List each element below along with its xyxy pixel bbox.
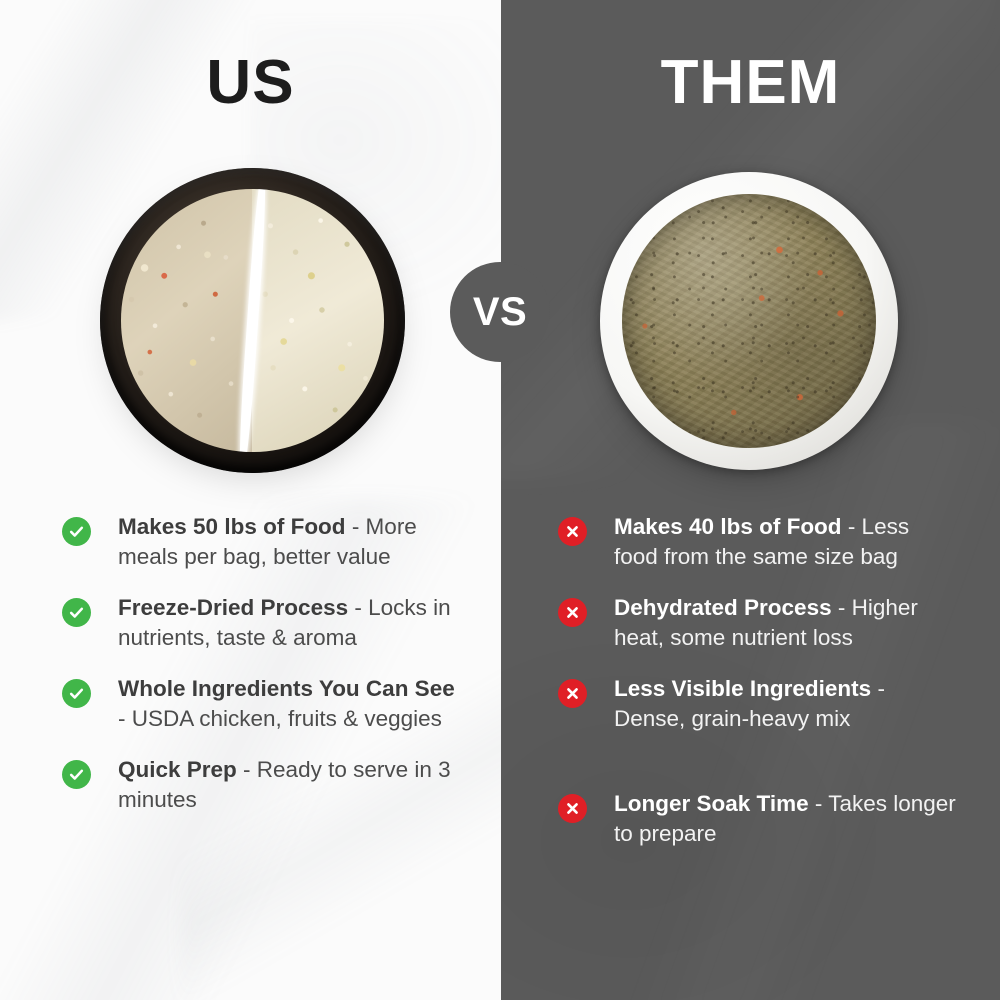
list-item-heading: Quick Prep [118, 757, 237, 782]
list-item-heading: Makes 50 lbs of Food [118, 514, 346, 539]
list-item: Quick Prep - Ready to serve in 3 minutes [62, 755, 462, 814]
us-benefit-list: Makes 50 lbs of Food - More meals per ba… [62, 512, 462, 836]
us-title: US [0, 52, 501, 114]
list-item: Makes 40 lbs of Food - Less food from th… [558, 512, 958, 571]
us-panel [0, 0, 501, 1000]
list-item-heading: Less Visible Ingredients [614, 676, 871, 701]
check-circle-icon [62, 517, 91, 546]
vs-badge-label: VS [473, 290, 527, 335]
white-bowl-body [600, 172, 898, 470]
list-item-heading: Dehydrated Process [614, 595, 832, 620]
list-item-text: Less Visible Ingredients - Dense, grain-… [614, 674, 958, 733]
list-item-text: Dehydrated Process - Higher heat, some n… [614, 593, 958, 652]
list-item-detail: - USDA chicken, fruits & veggies [118, 706, 442, 731]
check-circle-icon [62, 760, 91, 789]
them-title: THEM [501, 52, 1000, 114]
list-item-heading: Makes 40 lbs of Food [614, 514, 842, 539]
list-item-text: Whole Ingredients You Can See - USDA chi… [118, 674, 462, 733]
cross-circle-icon [558, 794, 587, 823]
list-item-text: Quick Prep - Ready to serve in 3 minutes [118, 755, 462, 814]
dehydrated-food-surface [622, 194, 875, 447]
cross-circle-icon [558, 517, 587, 546]
list-item-heading: Freeze-Dried Process [118, 595, 348, 620]
dehydrated-food-bowl [600, 172, 898, 470]
dark-bowl-body [100, 168, 405, 473]
list-item-heading: Longer Soak Time [614, 791, 809, 816]
food-speckles [622, 194, 875, 447]
list-item: Freeze-Dried Process - Locks in nutrient… [62, 593, 462, 652]
list-item-heading: Whole Ingredients You Can See [118, 676, 455, 701]
freeze-dried-food-bowl [100, 168, 405, 473]
list-item: Longer Soak Time - Takes longer to prepa… [558, 789, 958, 848]
list-item-text: Makes 50 lbs of Food - More meals per ba… [118, 512, 462, 571]
list-item: Less Visible Ingredients - Dense, grain-… [558, 674, 958, 733]
list-item: Whole Ingredients You Can See - USDA chi… [62, 674, 462, 733]
check-circle-icon [62, 598, 91, 627]
list-item: Dehydrated Process - Higher heat, some n… [558, 593, 958, 652]
list-item-text: Makes 40 lbs of Food - Less food from th… [614, 512, 958, 571]
list-item-text: Freeze-Dried Process - Locks in nutrient… [118, 593, 462, 652]
check-circle-icon [62, 679, 91, 708]
list-item-text: Longer Soak Time - Takes longer to prepa… [614, 789, 958, 848]
them-drawback-list: Makes 40 lbs of Food - Less food from th… [558, 512, 958, 870]
vs-badge: VS [450, 262, 550, 362]
comparison-infographic: US THEM VS Makes 50 l [0, 0, 1000, 1000]
bowl-rim [100, 168, 405, 473]
cross-circle-icon [558, 598, 587, 627]
cross-circle-icon [558, 679, 587, 708]
list-item: Makes 50 lbs of Food - More meals per ba… [62, 512, 462, 571]
